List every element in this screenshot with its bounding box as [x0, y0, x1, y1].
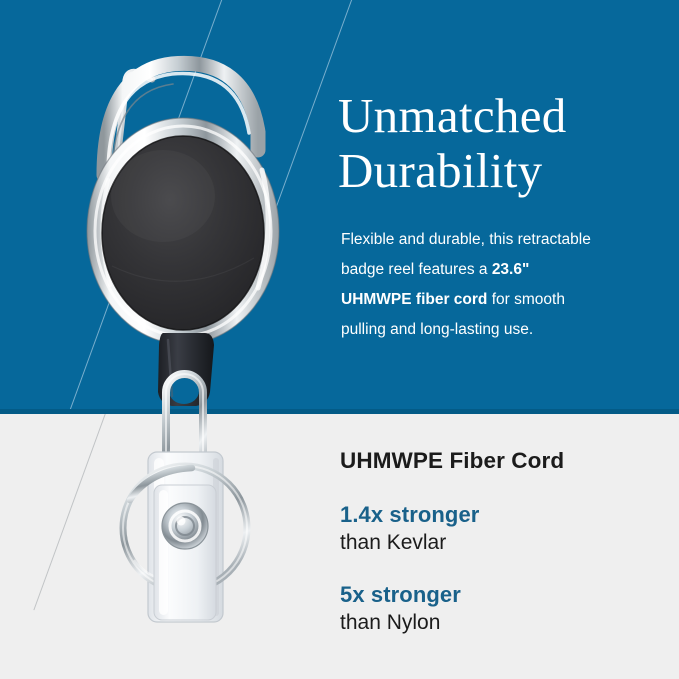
body-text-part-1: Flexible and durable, this retractable b…: [341, 231, 591, 278]
metal-snap-button: [162, 503, 208, 549]
stat-block-kevlar: 1.4x stronger than Kevlar: [340, 502, 640, 555]
blue-section-body: Flexible and durable, this retractable b…: [341, 225, 591, 346]
stat-comparison-kevlar: than Kevlar: [340, 530, 640, 555]
stat-value-nylon: 5x stronger: [340, 582, 640, 608]
blue-section-copy: Unmatched Durability Flexible and durabl…: [338, 88, 638, 346]
page-title: Unmatched Durability: [338, 88, 638, 199]
black-oval-reel-face: [102, 136, 264, 330]
stat-block-nylon: 5x stronger than Nylon: [340, 582, 640, 635]
gray-section-copy: UHMWPE Fiber Cord 1.4x stronger than Kev…: [340, 448, 640, 635]
stat-value-kevlar: 1.4x stronger: [340, 502, 640, 528]
product-infographic: Unmatched Durability Flexible and durabl…: [0, 0, 679, 679]
cord-title: UHMWPE Fiber Cord: [340, 448, 640, 474]
stat-comparison-nylon: than Nylon: [340, 610, 640, 635]
